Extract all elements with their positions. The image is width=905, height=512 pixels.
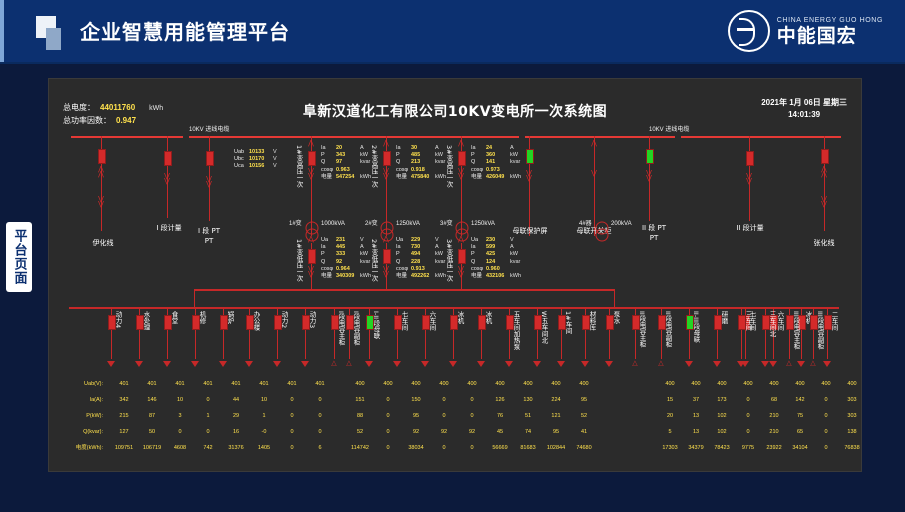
feeder-14-load-icon <box>449 361 457 367</box>
table-cell: 0 <box>375 441 401 455</box>
feeder-8-load-icon <box>301 361 309 367</box>
tx2-name: 2#变 <box>365 221 378 228</box>
tx1-rating: 1000kVA <box>321 221 345 228</box>
table-cell: 52 <box>347 425 373 439</box>
tx2-hv-u3: kvar <box>435 159 445 165</box>
table-cell: 52 <box>571 409 597 423</box>
feeder-2-load-icon <box>135 361 143 367</box>
table-cell: 87 <box>139 409 165 423</box>
feeder-16-load-icon <box>505 361 513 367</box>
table-cell: 0 <box>459 441 485 455</box>
table-cell: 95 <box>543 425 569 439</box>
tx3-hv-u2: kW <box>510 152 518 158</box>
table-cell: 0 <box>279 441 305 455</box>
tx2-lv-v4: 228 <box>411 259 435 266</box>
tx1-lv-v1: 231 <box>336 237 360 244</box>
table-cell: 29 <box>223 409 249 423</box>
app-root: 企业智慧用能管理平台 CHINA ENERGY GUO HONG 中能国宏 平台… <box>0 0 905 512</box>
table-cell: 0 <box>167 425 193 439</box>
table-cell: 92 <box>459 425 485 439</box>
lv-tie-3 <box>461 285 462 291</box>
feeder-label-20: 泵水 <box>612 311 620 324</box>
tx1-lv-readout: Ua231V Ia445A P333kW Q92kvar cosφ0.964 电… <box>321 237 371 280</box>
table-cell: 4608 <box>167 441 193 455</box>
hv-bay-1-disconnect-icon: ⋀⋀ <box>94 167 108 177</box>
table-cell: 114742 <box>347 441 373 455</box>
table-cell: 37 <box>683 393 709 407</box>
hv-bay-8-disconnect-icon: ⋀⋀ <box>817 167 831 177</box>
table-cell: 0 <box>195 425 221 439</box>
feeder-label-13: 六车间 <box>428 311 436 331</box>
tx3-hv-cabinet-label: 3#变高压一次 <box>445 145 453 187</box>
tx1-lv-earth-icon: ⋁⋁ <box>304 267 318 277</box>
tx3-lv-k2: Ia <box>471 244 486 251</box>
hv-bay-1-breaker[interactable] <box>98 149 106 164</box>
tx2-lv-k4: Q <box>396 259 411 266</box>
feeder-label-16: 五车间加热泵 <box>512 311 520 350</box>
feeder-label-5: 锅炉 <box>226 311 234 324</box>
hv-u-key-3: Uca <box>234 163 249 170</box>
square-blocks-logo-icon <box>36 16 70 50</box>
tx3-lv-v1: 230 <box>486 237 510 244</box>
tx3-lv-k6: 电量 <box>471 273 486 280</box>
feeder-17-load-icon <box>533 361 541 367</box>
table-cell: 401 <box>223 377 249 391</box>
table-cell: 34379 <box>683 441 709 455</box>
tx1-lv-u3: kW <box>360 251 368 257</box>
feeder-19-load-icon <box>581 361 589 367</box>
table-cell: 224 <box>543 393 569 407</box>
table-cell: 400 <box>657 377 683 391</box>
table-cell: 215 <box>111 409 137 423</box>
feeder-24-load-icon <box>713 361 721 367</box>
tx2-lv-v6: 492262 <box>411 273 435 280</box>
table-cell: 0 <box>735 425 761 439</box>
tx1-hv-breaker[interactable] <box>308 151 316 166</box>
table-cell: 0 <box>307 393 333 407</box>
tx2-hv-disconnect-icon: ⋀ <box>379 141 393 146</box>
table-cell: 5 <box>657 425 683 439</box>
tx3-hv-k5: 电量 <box>471 174 486 181</box>
tx1-hv-v5: 547254 <box>336 174 360 181</box>
tx3-lv-disconnect-icon: ⋀ <box>454 237 468 242</box>
tx3-hv-v4: 0.973 <box>486 167 510 174</box>
page-title: 企业智慧用能管理平台 <box>80 16 290 45</box>
table-cell: 6 <box>307 441 333 455</box>
china-energy-guohong-logo-icon <box>728 10 770 52</box>
tx3-hv-breaker[interactable] <box>458 151 466 166</box>
table-cell: 76838 <box>839 441 862 455</box>
tx2-lv-k6: 电量 <box>396 273 411 280</box>
tx2-hv-k4: cosφ <box>396 167 411 174</box>
table-row-label-2: Ia(A): <box>57 393 103 407</box>
hv-bay-label-3-sub: PT <box>179 237 239 246</box>
table-cell: 400 <box>431 377 457 391</box>
tx4-name: 4#器 <box>579 221 592 228</box>
table-cell: 31376 <box>223 441 249 455</box>
table-cell: 0 <box>813 393 839 407</box>
feeder-15-load-icon <box>477 361 485 367</box>
table-cell: 10 <box>167 393 193 407</box>
table-cell: 65 <box>787 425 813 439</box>
table-cell: 400 <box>403 377 429 391</box>
feeder-label-19: 材料库 <box>588 311 596 331</box>
table-cell: 400 <box>459 377 485 391</box>
clock-date: 2021年 1月 06日 星期三 <box>761 97 847 109</box>
feeder-30-load-icon <box>761 361 769 367</box>
tx1-hv-cabinet-label: 1#变高压一次 <box>295 145 303 187</box>
table-cell: 15 <box>657 393 683 407</box>
tx2-lv-k3: P <box>396 251 411 258</box>
hv-bay-8-earth-icon: ⋁⋁ <box>817 197 831 207</box>
table-cell: 0 <box>459 409 485 423</box>
hv-bus-left-2 <box>189 136 519 138</box>
table-cell: 342 <box>111 393 137 407</box>
table-cell: 102 <box>709 425 735 439</box>
tx2-lv-u3: kW <box>435 251 443 257</box>
table-cell: 401 <box>195 377 221 391</box>
feeder-label-15: 冰机 <box>484 311 492 324</box>
feeder-label-18: 1#车间 <box>564 311 572 334</box>
table-row: P(kW):2158731291008809500765112152201310… <box>57 409 855 423</box>
tx2-hv-k3: Q <box>396 159 411 166</box>
feeder-28-load-icon <box>823 361 831 367</box>
table-cell: 150 <box>403 393 429 407</box>
tx2-lv-breaker[interactable] <box>383 249 391 264</box>
table-cell: 400 <box>839 377 862 391</box>
feeder-4-load-icon <box>191 361 199 367</box>
tx3-hv-v1: 24 <box>486 145 510 152</box>
table-cell: 401 <box>307 377 333 391</box>
table-cell: 742 <box>195 441 221 455</box>
table-cell: 78423 <box>709 441 735 455</box>
tx1-lv-u4: kvar <box>360 259 370 265</box>
table-cell: 0 <box>195 393 221 407</box>
table-cell: 401 <box>251 377 277 391</box>
feeder-label-17: W五车间北 <box>540 311 548 343</box>
tx2-hv-earth-icon: ⋁⋁ <box>379 169 393 179</box>
feeder-31-capacitor-icon: △ <box>782 361 796 366</box>
table-row: Ia(A):3421461004410001510150001261302249… <box>57 393 855 407</box>
table-cell: 0 <box>431 409 457 423</box>
hv-u-unit-2: V <box>273 156 277 162</box>
hv-bay-label-1: 伊化线 <box>73 239 133 248</box>
tx1-lv-k6: 电量 <box>321 273 336 280</box>
bus-coupler-1-breaker[interactable] <box>526 149 534 164</box>
table-cell: 400 <box>709 377 735 391</box>
hv-u-key-1: Uab <box>234 149 249 156</box>
feeder-label-32: III段电容副柜 <box>816 311 824 349</box>
tx1-lv-k2: Ia <box>321 244 336 251</box>
tx2-hv-readout: Ia30A P485kW Q213kvar cosφ0.918 电量475840… <box>396 145 446 181</box>
tx2-lv-cabinet-label: 2#变低压一次 <box>370 239 378 281</box>
hv-bay-3-disconnect-icon: ⋁⋁ <box>202 177 216 187</box>
tx3-lv-u4: kvar <box>510 259 520 265</box>
feeder-32-capacitor-icon: △ <box>806 361 820 366</box>
tx3-hv-earth-icon: ⋁⋁ <box>454 169 468 179</box>
table-cell: 23922 <box>761 441 787 455</box>
tx1-hv-u3: kvar <box>360 159 370 165</box>
feeder-23-load-icon <box>685 361 693 367</box>
table-cell: 126 <box>487 393 513 407</box>
table-cell: 10 <box>251 393 277 407</box>
header-accent-bar <box>0 0 4 62</box>
tx2-lv-earth-icon: ⋁⋁ <box>379 267 393 277</box>
feeder-label-6: 办公楼 <box>252 311 260 331</box>
table-cell: 400 <box>543 377 569 391</box>
brand-logo: CHINA ENERGY GUO HONG 中能国宏 <box>728 10 883 52</box>
clock-widget: 2021年 1月 06日 星期三 14:01:39 <box>761 97 847 121</box>
tx1-lv-v6: 340309 <box>336 273 360 280</box>
tx3-lv-v4: 124 <box>486 259 510 266</box>
feeder-22-capacitor-icon: △ <box>654 361 668 366</box>
tx2-lv-u2: A <box>435 244 439 250</box>
feeder-label-24: 研磨 <box>720 311 728 324</box>
tx3-lv-u3: kW <box>510 251 518 257</box>
tx2-hv-k1: Ia <box>396 145 411 152</box>
bus-coupler-1-earth-icon: ⋁⋁ <box>522 171 536 181</box>
app-header: 企业智慧用能管理平台 CHINA ENERGY GUO HONG 中能国宏 <box>0 0 905 64</box>
table-cell: 20 <box>657 409 683 423</box>
feeder-9-capacitor-icon: △ <box>327 361 341 366</box>
feeder-label-14: 冰机 <box>456 311 464 324</box>
table-cell: 0 <box>459 393 485 407</box>
tx1-hv-k2: P <box>321 152 336 159</box>
hv-bay-label-4: 母联保护屏 <box>505 227 555 236</box>
lv-tie-1 <box>311 285 312 291</box>
feeder-label-7: 动力2 <box>280 311 288 328</box>
tx3-lv-earth-icon: ⋁⋁ <box>454 267 468 277</box>
bus-coupler-2-disconnect-icon: ⋀ <box>587 141 601 146</box>
table-cell: 74 <box>515 425 541 439</box>
table-row-label-4: Q(kvar): <box>57 425 103 439</box>
table-cell: 151 <box>347 393 373 407</box>
tx1-hv-v4: 0.963 <box>336 167 360 174</box>
tx1-lv-disconnect-icon: ⋀ <box>304 237 318 242</box>
lv-bus-main-upper <box>194 289 614 291</box>
table-cell: 400 <box>683 377 709 391</box>
tx2-hv-u1: A <box>435 145 439 151</box>
tx2-hv-v2: 485 <box>411 152 435 159</box>
feeder-label-3: 食堂 <box>170 311 178 324</box>
table-cell: 109751 <box>111 441 137 455</box>
tx3-lv-k5: cosφ <box>471 266 486 273</box>
tx1-lv-u1: V <box>360 237 364 243</box>
tx1-lv-u2: A <box>360 244 364 250</box>
table-cell: 45 <box>487 425 513 439</box>
feeder-7-load-icon <box>273 361 281 367</box>
table-cell: 401 <box>139 377 165 391</box>
hv-bay-1-earth-icon: ⋁⋁ <box>94 197 108 207</box>
table-cell: 173 <box>709 393 735 407</box>
tx2-rating: 1250kVA <box>396 221 420 228</box>
tx3-lv-breaker[interactable] <box>458 249 466 264</box>
table-cell: 76 <box>487 409 513 423</box>
tx2-hv-v5: 475840 <box>411 174 435 181</box>
tx2-hv-k2: P <box>396 152 411 159</box>
tx3-hv-disconnect-icon: ⋀ <box>454 141 468 146</box>
tx3-rating: 1250kVA <box>471 221 495 228</box>
tx3-hv-v2: 360 <box>486 152 510 159</box>
feeder-label-22: II段电容副柜 <box>664 311 672 347</box>
tx3-hv-k3: Q <box>471 159 486 166</box>
tx2-hv-cabinet-label: 2#变高压一次 <box>370 145 378 187</box>
table-cell: 400 <box>787 377 813 391</box>
feeder-label-10: I段电容副柜 <box>352 311 360 345</box>
tx2-hv-k5: 电量 <box>396 174 411 181</box>
tx1-hv-disconnect-icon: ⋀ <box>304 141 318 146</box>
tx3-hv-u3: kvar <box>510 159 520 165</box>
hv-bay-2-disconnect-icon: ⋁⋁ <box>160 174 174 184</box>
tx2-lv-v5: 0.913 <box>411 266 435 273</box>
tx1-hv-u1: A <box>360 145 364 151</box>
feeder-label-2: 水处理 <box>142 311 150 331</box>
tx3-lv-v5: 0.960 <box>486 266 510 273</box>
feeder-20-load-icon <box>605 361 613 367</box>
single-line-diagram-panel: 总电度：44011760kWh 总功率因数：0.947 阜新汉道化工有限公司10… <box>48 78 862 472</box>
feeder-label-9: I段电容主柜 <box>337 311 345 345</box>
table-cell: 400 <box>761 377 787 391</box>
table-cell: 401 <box>279 377 305 391</box>
table-cell: 400 <box>487 377 513 391</box>
tx1-lv-cabinet-label: 1#变低压一次 <box>295 239 303 281</box>
tx3-lv-v2: 599 <box>486 244 510 251</box>
tx1-lv-breaker[interactable] <box>308 249 316 264</box>
table-cell: 102 <box>709 409 735 423</box>
table-cell: 50 <box>139 425 165 439</box>
tx2-hv-breaker[interactable] <box>383 151 391 166</box>
table-cell: 0 <box>813 441 839 455</box>
tx3-lv-u1: V <box>510 237 514 243</box>
table-cell: 0 <box>279 425 305 439</box>
brand-name-en: CHINA ENERGY GUO HONG <box>777 16 883 26</box>
tx1-lv-k5: cosφ <box>321 266 336 273</box>
table-cell: 13 <box>683 425 709 439</box>
feeder-label-4: 机修 <box>198 311 206 324</box>
tx2-lv-u1: V <box>435 237 439 243</box>
hv-u-unit-3: V <box>273 163 277 169</box>
tx3-hv-v5: 426049 <box>486 174 510 181</box>
feeder-label-28: 二车间 <box>830 311 838 331</box>
brand-name-cn: 中能国宏 <box>777 26 883 47</box>
table-cell: 0 <box>735 409 761 423</box>
tx3-hv-k2: P <box>471 152 486 159</box>
feeder-12-load-icon <box>393 361 401 367</box>
tx2-hv-v1: 30 <box>411 145 435 152</box>
table-cell: 0 <box>375 409 401 423</box>
tx2-lv-v2: 730 <box>411 244 435 251</box>
table-cell: 75 <box>787 409 813 423</box>
feeder-13-load-icon <box>421 361 429 367</box>
table-cell: 0 <box>813 409 839 423</box>
feeder-label-1: 动力4 <box>114 311 122 328</box>
table-cell: 303 <box>839 409 862 423</box>
table-cell: 41 <box>571 425 597 439</box>
diagram-title: 阜新汉道化工有限公司10KV变电所一次系统图 <box>49 101 861 121</box>
table-cell: 38034 <box>403 441 429 455</box>
table-cell: 0 <box>735 393 761 407</box>
table-row-label-3: P(kW): <box>57 409 103 423</box>
table-cell: 0 <box>279 409 305 423</box>
tx2-hv-v3: 213 <box>411 159 435 166</box>
feeder-label-12: 七车间 <box>400 311 408 331</box>
tx3-lv-u6: kWh <box>510 273 521 279</box>
table-cell: 95 <box>571 393 597 407</box>
incoming-cable-label-left: 10KV 进线电缆 <box>189 127 229 134</box>
hv-bay-7-breaker[interactable] <box>746 151 754 166</box>
tx2-lv-k1: Ua <box>396 237 411 244</box>
hv-bay-8-breaker[interactable] <box>821 149 829 164</box>
table-cell: 102844 <box>543 441 569 455</box>
sidebar-tab-platform-page[interactable]: 平台页面 <box>6 222 32 292</box>
hv-bay-2-breaker[interactable] <box>164 151 172 166</box>
table-cell: 130 <box>515 393 541 407</box>
table-cell: 56669 <box>487 441 513 455</box>
feeder-6-load-icon <box>245 361 253 367</box>
table-cell: 210 <box>761 425 787 439</box>
hv-bay-3-breaker[interactable] <box>206 151 214 166</box>
table-cell: 0 <box>307 409 333 423</box>
tx1-hv-k3: Q <box>321 159 336 166</box>
table-cell: 146 <box>139 393 165 407</box>
tx1-lv-v4: 92 <box>336 259 360 266</box>
feeder-18-load-icon <box>557 361 565 367</box>
incoming-cable-label-right: 10KV 进线电缆 <box>649 127 689 134</box>
tx2-lv-v3: 494 <box>411 251 435 258</box>
hv-u-unit-1: V <box>273 149 277 155</box>
hv-bus-right-2 <box>681 136 841 138</box>
table-cell: 400 <box>813 377 839 391</box>
table-cell: 68 <box>761 393 787 407</box>
tx1-lv-v2: 445 <box>336 244 360 251</box>
tx2-lv-disconnect-icon: ⋀ <box>379 237 393 242</box>
tx3-lv-k3: P <box>471 251 486 258</box>
hv-u-val-2: 10170 <box>249 156 273 163</box>
hv-bus-right-1 <box>525 136 675 138</box>
lv-bus-main <box>69 307 839 309</box>
tx1-hv-readout: Ia20A P343kW Q97kvar cosφ0.963 电量547254k… <box>321 145 371 181</box>
table-cell: 17303 <box>657 441 683 455</box>
feeder-11-load-icon <box>365 361 373 367</box>
tx4-symbol-icon <box>594 221 610 243</box>
table-cell: 303 <box>839 393 862 407</box>
hv-bay-label-7: II 段计量 <box>725 224 775 233</box>
tx1-hv-v2: 343 <box>336 152 360 159</box>
feeder-27-load-icon <box>797 361 805 367</box>
hv-bay-label-8: 张化线 <box>799 239 849 248</box>
table-cell: 88 <box>347 409 373 423</box>
table-cell: 0 <box>431 393 457 407</box>
table-cell: 106719 <box>139 441 165 455</box>
feeder-label-31: III段电容主柜 <box>792 311 800 349</box>
table-row: Q(kvar):127500016-0005209292924574954151… <box>57 425 855 439</box>
clock-time: 14:01:39 <box>761 109 847 121</box>
table-cell: 3 <box>167 409 193 423</box>
table-cell: 127 <box>111 425 137 439</box>
table-cell: 121 <box>543 409 569 423</box>
table-row: 电度(kWh):10975110671946087423137614050611… <box>57 441 855 455</box>
feeder-label-21: II段电容主柜 <box>638 311 646 347</box>
tx3-lv-k1: Ua <box>471 237 486 244</box>
feeder-label-26: 六车间 <box>776 311 784 331</box>
hv-u-key-2: Ubc <box>234 156 249 163</box>
bus-coupler-2-earth-icon: ⋁ <box>587 171 601 176</box>
tx1-lv-k3: P <box>321 251 336 258</box>
tx3-lv-v6: 432106 <box>486 273 510 280</box>
table-cell: 0 <box>375 393 401 407</box>
hv-bay-6-breaker[interactable] <box>646 149 654 164</box>
table-cell: 0 <box>307 425 333 439</box>
